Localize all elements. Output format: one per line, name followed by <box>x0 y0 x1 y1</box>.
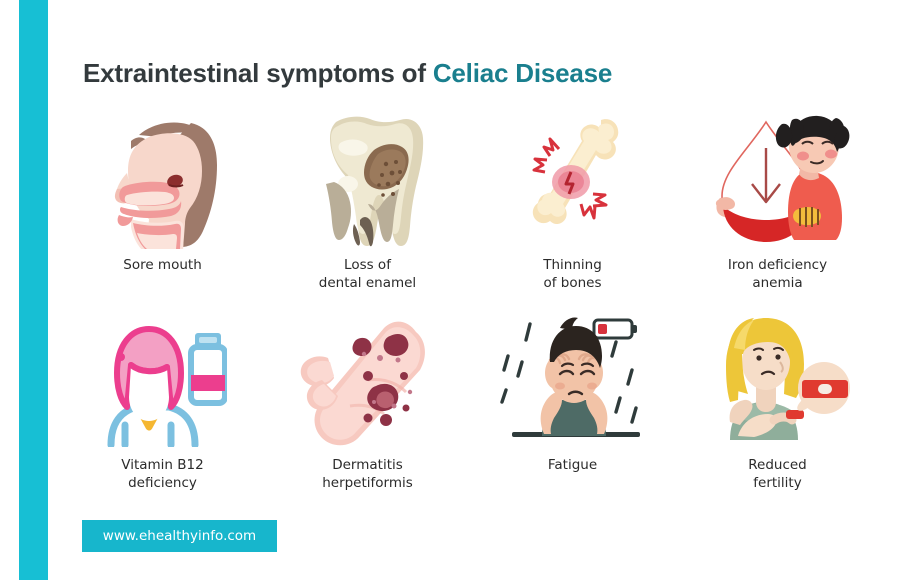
symptom-card-reduced-fertility: Reduced fertility <box>675 310 880 510</box>
symptom-caption: Vitamin B12 deficiency <box>121 456 203 492</box>
symptom-label-line1: Reduced <box>748 456 807 474</box>
symptom-label-line2: dental enamel <box>319 274 416 292</box>
website-badge[interactable]: www.ehealthyinfo.com <box>82 520 277 552</box>
symptom-card-sore-mouth: Sore mouth <box>60 110 265 310</box>
page-title: Extraintestinal symptoms of Celiac Disea… <box>83 58 612 89</box>
symptom-caption: Fatigue <box>548 456 597 474</box>
decayed-tooth-icon <box>293 110 443 250</box>
symptom-label-line2: anemia <box>728 274 827 292</box>
symptom-caption: Dermatitis herpetiformis <box>322 456 413 492</box>
symptom-card-thinning-bones: Thinning of bones <box>470 110 675 310</box>
symptom-label-line1: Vitamin B12 <box>121 456 203 474</box>
symptom-caption: Reduced fertility <box>748 456 807 492</box>
symptom-label-line2: deficiency <box>121 474 203 492</box>
symptom-label-line1: Iron deficiency <box>728 256 827 274</box>
symptom-caption: Sore mouth <box>123 256 202 274</box>
symptom-card-fatigue: Fatigue <box>470 310 675 510</box>
blood-drop-low-iron-girl-icon <box>703 110 853 250</box>
hand-rash-lesions-icon <box>293 310 443 450</box>
symptom-caption: Thinning of bones <box>543 256 602 292</box>
page-title-highlight: Celiac Disease <box>433 58 612 88</box>
symptom-label-line1: Dermatitis <box>322 456 413 474</box>
woman-pregnancy-test-icon <box>703 310 853 450</box>
page-title-main: Extraintestinal symptoms of <box>83 58 426 88</box>
symptom-card-dermatitis: Dermatitis herpetiformis <box>265 310 470 510</box>
symptom-label-line2: of bones <box>543 274 602 292</box>
femur-bone-pain-icon <box>498 110 648 250</box>
symptom-label-line1: Sore mouth <box>123 256 202 274</box>
symptom-label-line1: Thinning <box>543 256 602 274</box>
woman-vitamin-bottle-icon <box>88 310 238 450</box>
symptom-label-line1: Fatigue <box>548 456 597 474</box>
symptom-label-line1: Loss of <box>319 256 416 274</box>
symptom-card-iron-deficiency: Iron deficiency anemia <box>675 110 880 310</box>
symptom-label-line2: herpetiformis <box>322 474 413 492</box>
symptom-card-vitamin-b12: Vitamin B12 deficiency <box>60 310 265 510</box>
symptom-caption: Iron deficiency anemia <box>728 256 827 292</box>
symptom-grid: Sore mouth <box>60 110 880 510</box>
left-accent-bar <box>19 0 48 580</box>
symptom-caption: Loss of dental enamel <box>319 256 416 292</box>
symptom-label-line2: fertility <box>748 474 807 492</box>
symptom-card-dental-enamel: Loss of dental enamel <box>265 110 470 310</box>
website-url-text: www.ehealthyinfo.com <box>103 528 256 544</box>
head-profile-sore-mouth-icon <box>88 110 238 250</box>
tired-man-low-battery-icon <box>498 310 648 450</box>
